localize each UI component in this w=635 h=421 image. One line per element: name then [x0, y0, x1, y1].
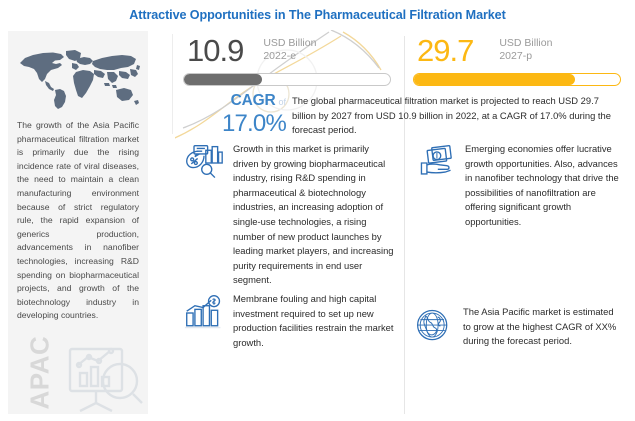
apac-paragraph: The growth of the Asia Pacific pharmaceu…	[17, 119, 139, 323]
stat-2027-unit-line2: 2027-p	[499, 50, 552, 63]
stat-2027-unit-line1: USD Billion	[499, 37, 552, 50]
page-title: Attractive Opportunities in The Pharmace…	[129, 8, 505, 22]
stat-2027-row: 29.7 USD Billion 2027-p	[413, 34, 623, 70]
cagr-label: CAGR	[231, 92, 276, 109]
stat-2027-unit: USD Billion 2027-p	[499, 34, 552, 63]
card-regional: The Asia Pacific market is estimated to …	[414, 305, 622, 349]
apac-panel: The growth of the Asia Pacific pharmaceu…	[8, 31, 148, 414]
globe-icon	[414, 307, 454, 345]
infographic-page: Attractive Opportunities in The Pharmace…	[0, 0, 635, 421]
stat-2022: 10.9 USD Billion 2022-e	[183, 34, 393, 86]
stat-2022-unit-line1: USD Billion	[263, 37, 316, 50]
card-restraints-text: Membrane fouling and high capital invest…	[233, 292, 396, 350]
title-bar: Attractive Opportunities in The Pharmace…	[0, 0, 635, 30]
market-research-icon	[184, 144, 224, 182]
stat-2022-progress-fill	[184, 74, 262, 85]
card-growth-drivers-text: Growth in this market is primarily drive…	[233, 142, 396, 288]
apac-watermark: APAC	[25, 320, 56, 410]
stat-2022-row: 10.9 USD Billion 2022-e	[183, 34, 393, 70]
stat-2027-progress-bar	[413, 73, 621, 86]
stat-2022-unit-line2: 2022-e	[263, 50, 316, 63]
column-divider	[404, 36, 405, 414]
card-restraints: Membrane fouling and high capital invest…	[184, 292, 396, 350]
cagr-value: 17.0%	[186, 111, 286, 136]
summary-text: The global pharmaceutical filtration mar…	[292, 94, 622, 138]
cagr-label-row: CAGRof	[186, 92, 286, 111]
stat-2027: 29.7 USD Billion 2027-p	[413, 34, 623, 86]
cagr-of-label: of	[278, 97, 286, 107]
chart-magnifier-icon	[60, 343, 146, 414]
bar-chart-growth-icon	[184, 294, 224, 332]
stat-2027-progress-fill	[414, 74, 575, 85]
hand-money-icon	[416, 144, 456, 182]
stat-2022-progress-bar	[183, 73, 391, 86]
card-growth-drivers: Growth in this market is primarily drive…	[184, 142, 396, 288]
stat-2022-value: 10.9	[183, 34, 243, 68]
stat-2027-value: 29.7	[413, 34, 473, 68]
card-opportunities-text: Emerging economies offer lucrative growt…	[465, 142, 622, 230]
card-opportunities: Emerging economies offer lucrative growt…	[416, 142, 622, 230]
stat-2022-unit: USD Billion 2022-e	[263, 34, 316, 63]
world-map-icon	[14, 48, 142, 110]
card-regional-text: The Asia Pacific market is estimated to …	[463, 305, 620, 349]
cagr-block: CAGRof 17.0%	[186, 92, 286, 136]
top-divider	[172, 34, 173, 134]
